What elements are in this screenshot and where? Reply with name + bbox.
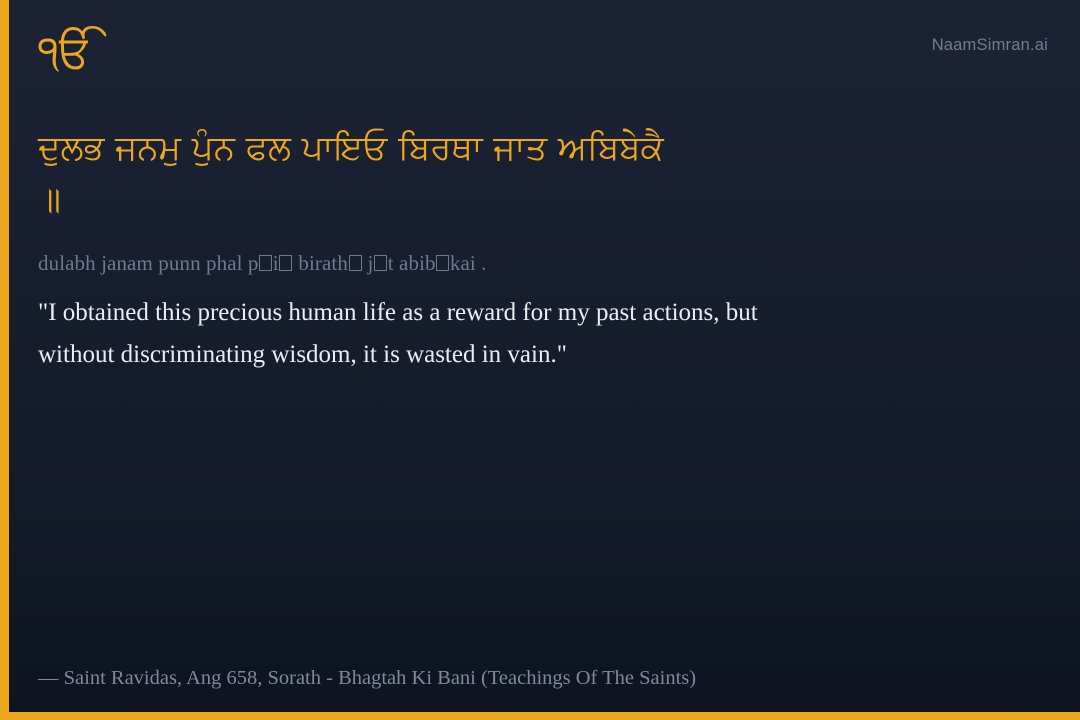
left-gold-accent-bar <box>0 0 9 720</box>
brand-wordmark: NaamSimran.ai <box>932 34 1048 56</box>
missing-glyph-box <box>349 255 362 271</box>
source-attribution: — Saint Ravidas, Ang 658, Sorath - Bhagt… <box>38 664 696 692</box>
bottom-gold-accent-bar <box>0 712 1080 720</box>
missing-glyph-box <box>259 255 272 271</box>
missing-glyph-box <box>279 255 292 271</box>
missing-glyph-box <box>436 255 449 271</box>
missing-glyph-box <box>374 255 387 271</box>
card-header: ੴ NaamSimran.ai <box>38 24 1048 80</box>
ik-onkar-icon: ੴ <box>38 24 93 80</box>
transliteration-line: dulabh janam punn phal pi birath jt abib… <box>38 248 798 278</box>
gurmukhi-verse: ਦੁਲਭ ਜਨਮੁ ਪੁੰਨ ਫਲ ਪਾਇਓ ਬਿਰਥਾ ਜਾਤ ਅਬਿਬੇਕੈ… <box>38 122 678 226</box>
quote-card: ੴ NaamSimran.ai ਦੁਲਭ ਜਨਮੁ ਪੁੰਨ ਫਲ ਪਾਇਓ ਬ… <box>0 0 1080 720</box>
verse-block: ਦੁਲਭ ਜਨਮੁ ਪੁੰਨ ਫਲ ਪਾਇਓ ਬਿਰਥਾ ਜਾਤ ਅਬਿਬੇਕੈ… <box>38 122 898 376</box>
english-translation: "I obtained this precious human life as … <box>38 292 828 376</box>
